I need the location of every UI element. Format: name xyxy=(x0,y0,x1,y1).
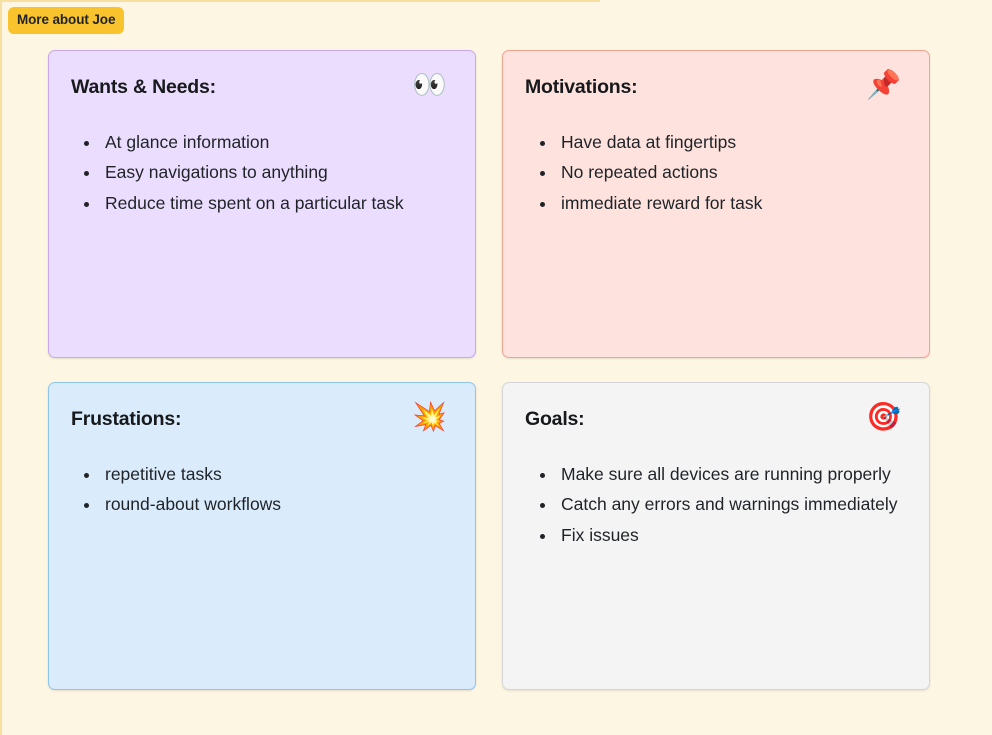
card-header: Wants & Needs: 👀 xyxy=(71,75,449,99)
list-item: Fix issues xyxy=(557,520,903,550)
more-about-joe-badge[interactable]: More about Joe xyxy=(8,7,124,34)
persona-card-grid: Wants & Needs: 👀 At glance information E… xyxy=(48,50,930,690)
list-item: Reduce time spent on a particular task xyxy=(101,188,449,218)
list-item: Make sure all devices are running proper… xyxy=(557,459,903,489)
card-goals: Goals: 🎯 Make sure all devices are runni… xyxy=(502,382,930,690)
card-title: Goals: xyxy=(525,407,584,431)
collision-icon: 💥 xyxy=(412,403,447,431)
card-motivations: Motivations: 📌 Have data at fingertips N… xyxy=(502,50,930,358)
page-left-border xyxy=(0,0,2,735)
card-title: Motivations: xyxy=(525,75,637,99)
dart-target-icon: 🎯 xyxy=(866,403,901,431)
card-title: Wants & Needs: xyxy=(71,75,216,99)
list-item: repetitive tasks xyxy=(101,459,449,489)
list-item: Have data at fingertips xyxy=(557,127,903,157)
card-wants-needs: Wants & Needs: 👀 At glance information E… xyxy=(48,50,476,358)
card-bullet-list: Make sure all devices are running proper… xyxy=(525,459,903,549)
list-item: immediate reward for task xyxy=(557,188,903,218)
card-header: Goals: 🎯 xyxy=(525,407,903,431)
list-item: At glance information xyxy=(101,127,449,157)
card-header: Frustations: 💥 xyxy=(71,407,449,431)
list-item: No repeated actions xyxy=(557,157,903,187)
card-bullet-list: repetitive tasks round-about workflows xyxy=(71,459,449,519)
list-item: Easy navigations to anything xyxy=(101,157,449,187)
pushpin-icon: 📌 xyxy=(866,71,901,99)
list-item: round-about workflows xyxy=(101,489,449,519)
card-frustations: Frustations: 💥 repetitive tasks round-ab… xyxy=(48,382,476,690)
card-title: Frustations: xyxy=(71,407,181,431)
eyes-icon: 👀 xyxy=(412,71,447,99)
page-top-border xyxy=(0,0,600,2)
card-header: Motivations: 📌 xyxy=(525,75,903,99)
card-bullet-list: At glance information Easy navigations t… xyxy=(71,127,449,217)
card-bullet-list: Have data at fingertips No repeated acti… xyxy=(525,127,903,217)
list-item: Catch any errors and warnings immediatel… xyxy=(557,489,903,519)
